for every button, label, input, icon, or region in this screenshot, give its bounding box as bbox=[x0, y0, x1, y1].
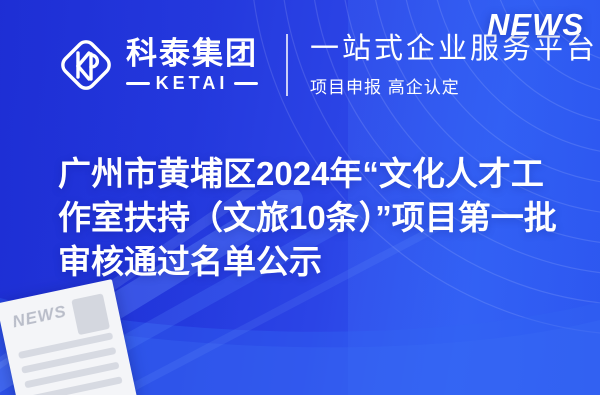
ketai-logo-icon bbox=[58, 37, 114, 93]
brand-name-en-row: KETAI bbox=[126, 73, 258, 94]
brand-name-cn: 科泰集团 bbox=[126, 38, 258, 71]
header-subtitle: 项目申报 高企认定 bbox=[310, 73, 598, 98]
banner-header: 科泰集团 KETAI 一站式企业服务平台 项目申报 高企认定 NEWS bbox=[0, 0, 600, 130]
brand-lockup: 科泰集团 KETAI bbox=[58, 36, 258, 95]
news-banner: 科泰集团 KETAI 一站式企业服务平台 项目申报 高企认定 NEWS 广州市黄… bbox=[0, 0, 600, 400]
brand-rule-left bbox=[126, 82, 150, 85]
page-title: 广州市黄埔区2024年“文化人才工作室扶持（文旅10条）”项目第一批审核通过名单… bbox=[58, 152, 558, 284]
brand-name-en: KETAI bbox=[156, 73, 229, 94]
header-divider bbox=[286, 34, 288, 96]
news-badge: NEWS bbox=[487, 7, 584, 43]
bottom-white-strip bbox=[0, 395, 600, 400]
brand-rule-right bbox=[234, 82, 258, 85]
brand-wordmark: 科泰集团 KETAI bbox=[126, 38, 258, 95]
